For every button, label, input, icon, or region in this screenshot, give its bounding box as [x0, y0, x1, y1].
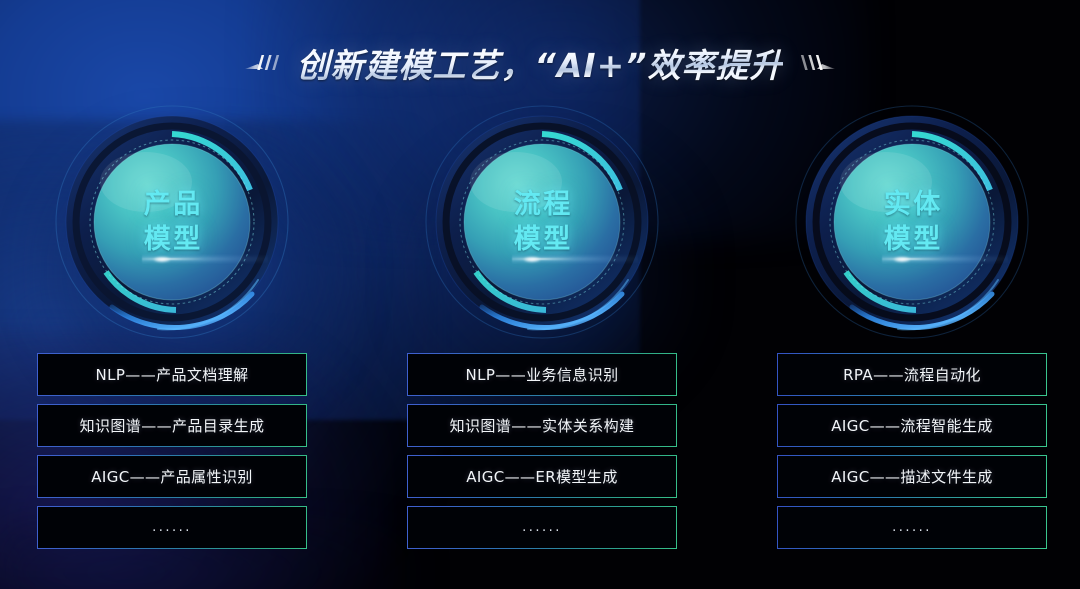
tag-item[interactable]: AIGC——产品属性识别 — [37, 455, 307, 498]
orb-light-flare-core — [154, 257, 170, 262]
tag-item[interactable]: RPA——流程自动化 — [777, 353, 1047, 396]
tag-item[interactable]: NLP——产品文档理解 — [37, 353, 307, 396]
tag-label: AIGC——流程智能生成 — [831, 415, 993, 436]
orb-light-flare-core — [524, 257, 540, 262]
tag-list-product: NLP——产品文档理解 知识图谱——产品目录生成 AIGC——产品属性识别 ··… — [37, 353, 307, 557]
tag-item[interactable]: 知识图谱——产品目录生成 — [37, 404, 307, 447]
slide-canvas: 创新建模工艺，“AI+”效率提升 — [0, 0, 1080, 589]
tag-label: 知识图谱——实体关系构建 — [450, 415, 635, 436]
tag-label: ······ — [522, 524, 562, 539]
tag-item[interactable]: NLP——业务信息识别 — [407, 353, 677, 396]
tag-item[interactable]: AIGC——ER模型生成 — [407, 455, 677, 498]
title-decoration-left-icon — [245, 50, 285, 76]
page-title: 创新建模工艺，“AI+”效率提升 — [297, 39, 784, 87]
slide-title-row: 创新建模工艺，“AI+”效率提升 — [0, 36, 1080, 90]
tag-label: AIGC——产品属性识别 — [91, 466, 253, 487]
tag-label: NLP——业务信息识别 — [465, 364, 618, 385]
orb-graphic — [424, 104, 660, 340]
tag-label: NLP——产品文档理解 — [95, 364, 248, 385]
tag-label: RPA——流程自动化 — [843, 364, 981, 385]
orb-graphic — [794, 104, 1030, 340]
tag-label: ······ — [152, 524, 192, 539]
tag-item[interactable]: 知识图谱——实体关系构建 — [407, 404, 677, 447]
tag-item[interactable]: AIGC——流程智能生成 — [777, 404, 1047, 447]
orb-graphic — [54, 104, 290, 340]
tag-list-entity: RPA——流程自动化 AIGC——流程智能生成 AIGC——描述文件生成 ···… — [777, 353, 1047, 557]
tag-label: AIGC——ER模型生成 — [466, 466, 617, 487]
title-decoration-right-icon — [795, 50, 835, 76]
tag-label: AIGC——描述文件生成 — [831, 466, 993, 487]
tag-item-more[interactable]: ······ — [407, 506, 677, 549]
tag-item-more[interactable]: ······ — [37, 506, 307, 549]
orb-entity[interactable]: 实体 模型 — [794, 104, 1030, 340]
tag-list-process: NLP——业务信息识别 知识图谱——实体关系构建 AIGC——ER模型生成 ··… — [407, 353, 677, 557]
tag-item-more[interactable]: ······ — [777, 506, 1047, 549]
tag-label: ······ — [892, 524, 932, 539]
tag-item[interactable]: AIGC——描述文件生成 — [777, 455, 1047, 498]
orb-process[interactable]: 流程 模型 — [424, 104, 660, 340]
orb-light-flare-core — [894, 257, 910, 262]
orb-product[interactable]: 产品 模型 — [54, 104, 290, 340]
tag-label: 知识图谱——产品目录生成 — [80, 415, 265, 436]
